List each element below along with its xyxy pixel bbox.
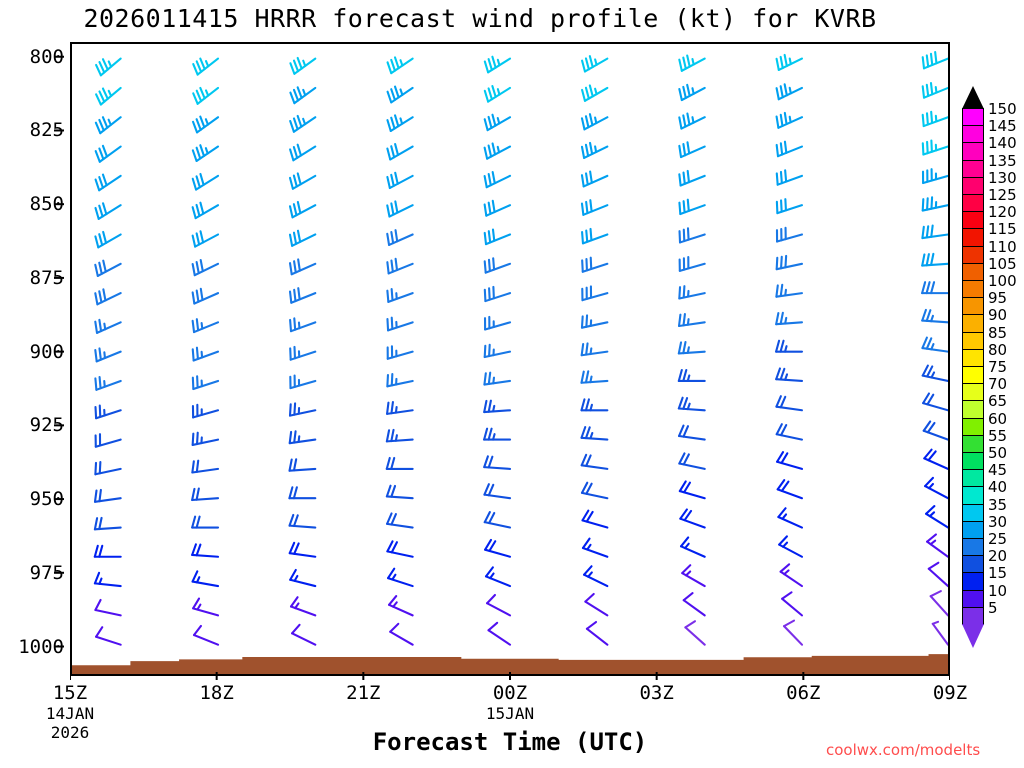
wind-barb [581,427,607,440]
colorbar-swatch [962,314,984,332]
wind-barb [291,597,315,615]
wind-barb [95,320,120,333]
wind-barb [290,375,315,388]
wind-barb [782,592,802,615]
wind-barb [777,84,802,99]
wind-barb [95,490,121,502]
colorbar-tick-label: 140 [988,134,1017,152]
wind-barb [193,348,218,361]
wind-barb [922,226,948,239]
wind-barb [777,142,802,157]
wind-barb-field [72,44,948,674]
wind-barb [484,484,510,498]
wind-barb [923,197,948,210]
colorbar-tick-label: 90 [988,306,1007,324]
colorbar-swatch [962,108,984,126]
wind-barb [581,371,607,382]
wind-barb [776,285,802,297]
y-tick-label: 825 [30,119,64,141]
colorbar-tick-label: 75 [988,358,1007,376]
wind-barb [485,86,510,102]
colorbar-swatch [962,383,984,401]
wind-barb [485,345,510,357]
y-tick-label: 875 [30,267,64,289]
wind-barb [778,508,802,527]
wind-barb [193,289,218,304]
y-tick-label: 975 [30,562,64,584]
colorbar-swatch [962,590,984,608]
wind-barb [485,512,510,528]
wind-barb [777,256,802,269]
wind-barb [924,450,948,469]
wind-barb [681,537,705,556]
wind-barb [778,480,802,498]
colorbar-tick-label: 45 [988,461,1007,479]
wind-barb [192,517,218,528]
wind-barb [192,544,218,556]
wind-barb [387,173,412,188]
wind-barb [289,487,315,498]
x-tick-label: 06Z [786,682,820,704]
wind-barb [388,87,413,103]
colorbar-under-arrow [962,624,984,648]
wind-barb [193,405,218,418]
wind-barb [95,573,121,586]
colorbar-swatch [962,332,984,350]
wind-barb [485,57,510,73]
wind-barb [781,564,802,586]
wind-barb [685,621,704,644]
colorbar-swatch [962,160,984,178]
wind-barb [582,511,607,528]
wind-barb [922,282,948,293]
wind-barb [485,172,510,187]
colorbar-tick-label: 80 [988,341,1007,359]
colorbar-swatch [962,211,984,229]
wind-barb [684,593,705,615]
wind-barb [485,230,510,245]
wind-barb [193,117,218,133]
colorbar-swatch [962,469,984,487]
wind-barb [95,348,120,361]
wind-barb [387,541,412,556]
wind-barb [96,434,121,447]
colorbar-tick-label: 55 [988,427,1007,445]
wind-barb [96,117,121,133]
wind-barb [484,401,510,412]
wind-barb [784,621,802,645]
wind-barb [582,455,608,469]
colorbar-tick-label: 125 [988,186,1017,204]
wind-barb [777,228,802,242]
wind-barb [290,231,315,246]
wind-barb [679,142,704,157]
wind-barb [582,56,607,71]
wind-barb [485,258,510,272]
wind-barb [584,566,607,586]
wind-barb [388,57,413,73]
wind-barb [776,396,802,410]
wind-barb [290,403,315,415]
wind-barb [387,318,412,331]
wind-barb [679,342,705,353]
plot-area [70,42,950,676]
colorbar-swatch [962,297,984,315]
x-tick-label: 03Z [639,682,673,704]
wind-barb [290,543,316,557]
wind-barb [390,624,412,645]
wind-barb [193,319,218,332]
wind-barb [192,489,218,500]
wind-barb [776,368,802,381]
wind-barb [777,452,802,469]
wind-barb [388,569,413,586]
wind-barb [290,318,315,331]
wind-barb [680,509,704,527]
wind-barb [290,459,316,470]
colorbar-swatch [962,521,984,539]
colorbar-tick-label: 5 [988,599,998,617]
wind-barb [193,599,218,616]
colorbar-swatch [962,486,984,504]
colorbar-tick-label: 25 [988,530,1007,548]
wind-barb [582,483,607,499]
wind-barb [582,315,607,327]
x-tick-label: 09Z [933,682,967,704]
chart-title: 2026011415 HRRR forecast wind profile (k… [0,4,960,33]
wind-barb [777,55,802,70]
wind-barb [931,591,948,615]
colorbar-over-arrow [962,86,984,109]
wind-barb [582,343,608,355]
wind-barb [485,201,510,216]
x-tick-sublabel: 15JAN [486,704,534,723]
wind-barb [290,288,315,303]
colorbar-swatch [962,572,984,590]
wind-barb [923,140,948,154]
colorbar-tick-label: 100 [988,272,1017,290]
wind-barb [582,286,607,300]
wind-barb [582,258,607,272]
y-tick-label: 1000 [18,636,64,658]
wind-barb [680,228,705,242]
wind-barb [679,370,705,381]
wind-barb [193,571,218,586]
wind-barb [923,169,948,183]
colorbar-tick-label: 130 [988,169,1017,187]
wind-barb [679,453,704,469]
wind-barb [387,230,412,245]
wind-barb [779,536,802,556]
y-axis-labels: 8008258508759009259509751000 [0,42,64,676]
colorbar-swatch [962,142,984,160]
wind-barb [924,422,948,440]
y-tick-label: 800 [30,46,64,68]
wind-barb [922,254,948,266]
wind-barb [292,625,315,645]
x-axis-ticks [70,672,950,682]
wind-barb [582,85,607,100]
wind-barb [387,115,412,131]
wind-barb [290,173,315,188]
wind-barb [387,289,412,302]
wind-barb [95,261,120,276]
wind-barb [777,199,802,213]
colorbar-tick-label: 60 [988,410,1007,428]
wind-barb [193,203,218,218]
wind-barb [582,200,607,215]
wind-barb [923,393,948,410]
wind-barb [776,341,802,352]
wind-barb [682,565,704,586]
wind-barb [290,515,316,528]
wind-barb [290,259,315,274]
x-axis-title: Forecast Time (UTC) [70,728,950,756]
colorbar-swatch [962,177,984,195]
wind-barb [95,546,121,557]
wind-barb [926,506,948,527]
wind-barb [192,461,218,473]
wind-barb [922,338,948,352]
wind-barb [193,376,218,389]
colorbar-swatch [962,504,984,522]
colorbar-swatch [962,555,984,573]
wind-barb [96,146,121,162]
wind-barb [923,83,948,98]
wind-barb [923,366,948,381]
colorbar-tick-label: 145 [988,117,1017,135]
wind-barb [95,600,120,615]
colorbar-tick-label: 85 [988,324,1007,342]
y-tick-label: 850 [30,193,64,215]
x-tick-label: 00Z [493,682,527,704]
x-tick-label: 21Z [346,682,380,704]
wind-barb [95,203,120,219]
wind-barb [581,399,607,410]
colorbar-tick-label: 135 [988,152,1017,170]
wind-barb [484,456,510,469]
wind-barb [486,567,510,586]
wind-barb [96,59,121,76]
wind-barb [679,56,704,71]
colorbar-swatch [962,418,984,436]
wind-barb [96,175,121,191]
colorbar-swatch [962,607,984,625]
x-tick-label: 18Z [199,682,233,704]
colorbar-tick-label: 105 [988,255,1017,273]
colorbar-swatch [962,194,984,212]
wind-barb [95,377,120,390]
wind-barb [193,231,218,246]
colorbar-tick-label: 50 [988,444,1007,462]
wind-barb [923,112,948,126]
wind-barb [485,317,510,330]
wind-barb [777,113,802,128]
wind-barb [290,145,315,161]
colorbar-tick-label: 150 [988,100,1017,118]
colorbar-tick-label: 40 [988,478,1007,496]
wind-barb [193,88,218,104]
wind-barb [582,114,607,129]
wind-barb [290,58,315,74]
colorbar-tick-label: 10 [988,582,1007,600]
colorbar-tick-label: 115 [988,220,1017,238]
colorbar-swatch [962,538,984,556]
wind-barb [925,478,948,498]
wind-barb [679,85,704,100]
wind-barb [388,346,413,359]
colorbar-tick-label: 65 [988,392,1007,410]
wind-barb [680,257,705,271]
wind-barb [96,627,121,644]
wind-barb [387,458,413,469]
wind-barb [777,424,802,439]
colorbar-swatch [962,125,984,143]
wind-barb [485,115,510,130]
wind-barb [679,314,705,326]
colorbar-tick-label: 35 [988,496,1007,514]
colorbar-swatch [962,400,984,418]
wind-barb [95,462,120,474]
wind-barb [929,563,948,586]
wind-barb [96,88,121,105]
colorbar-tick-label: 120 [988,203,1017,221]
wind-barb [585,594,607,615]
wind-barb [387,402,413,414]
colorbar-swatch [962,435,984,453]
wind-barb [193,260,218,275]
wind-barb [582,143,607,158]
wind-barb [193,433,218,445]
wind-barb [484,373,510,385]
y-tick-label: 900 [30,341,64,363]
wind-barb [679,398,705,411]
wind-barb [777,170,802,184]
colorbar-swatch [962,280,984,298]
colorbar-swatch [962,452,984,470]
wind-barb [387,259,412,274]
wind-barb [290,87,315,103]
wind-barb [485,287,510,301]
colorbar-tick-label: 95 [988,289,1007,307]
colorbar-tick-label: 15 [988,564,1007,582]
wind-barb [923,52,948,68]
wind-barb [776,313,802,324]
wind-barb [587,622,607,645]
wind-barb [387,486,413,499]
wind-barb [484,429,510,440]
colorbar-swatch [962,228,984,246]
colorbar-swatch [962,263,984,281]
colorbar-tick-label: 110 [988,238,1017,256]
wind-barb [679,426,705,440]
wind-barb [485,143,510,158]
wind-barb [679,200,704,214]
wind-barb [95,232,120,248]
wind-barb [922,310,948,322]
wind-barb [95,289,120,304]
x-tick-label: 15Z [53,682,87,704]
wind-barb [582,171,607,186]
wind-barb [389,596,413,615]
wind-barb [387,374,412,386]
colorbar-legend: 1501451401351301251201151101051009590858… [960,86,1024,656]
y-tick-label: 925 [30,414,64,436]
wind-barb [95,406,120,419]
colorbar-tick-label: 20 [988,547,1007,565]
wind-barb [95,518,121,529]
wind-barb [387,144,412,159]
y-tick-label: 950 [30,488,64,510]
wind-barb [680,481,705,498]
wind-barb [679,114,704,129]
wind-barb [193,59,218,75]
wind-profile-chart: 2026011415 HRRR forecast wind profile (k… [0,0,1024,768]
wind-barb [679,171,704,186]
wind-barb [487,595,510,615]
wind-barb [485,540,510,557]
wind-barb [387,514,413,528]
wind-barb [927,534,948,556]
wind-barb [488,623,510,645]
wind-barb [583,539,607,557]
wind-barb [193,145,218,161]
wind-barb [679,286,704,298]
wind-barb [290,202,315,217]
wind-barb [387,430,413,441]
colorbar-swatch [962,349,984,367]
watermark: coolwx.com/modelts [826,741,980,759]
wind-barb [387,201,412,216]
wind-barb [290,570,315,586]
colorbar-tick-label: 70 [988,375,1007,393]
colorbar-swatch [962,246,984,264]
wind-barb [193,174,218,190]
colorbar-tick-label: 30 [988,513,1007,531]
wind-barb [582,229,607,243]
wind-barb [933,622,948,645]
x-tick-sublabel: 14JAN [46,704,94,723]
colorbar-swatch [962,366,984,384]
wind-barb [290,116,315,132]
wind-barb [194,626,218,645]
wind-barb [290,431,316,443]
wind-barb [290,347,315,360]
